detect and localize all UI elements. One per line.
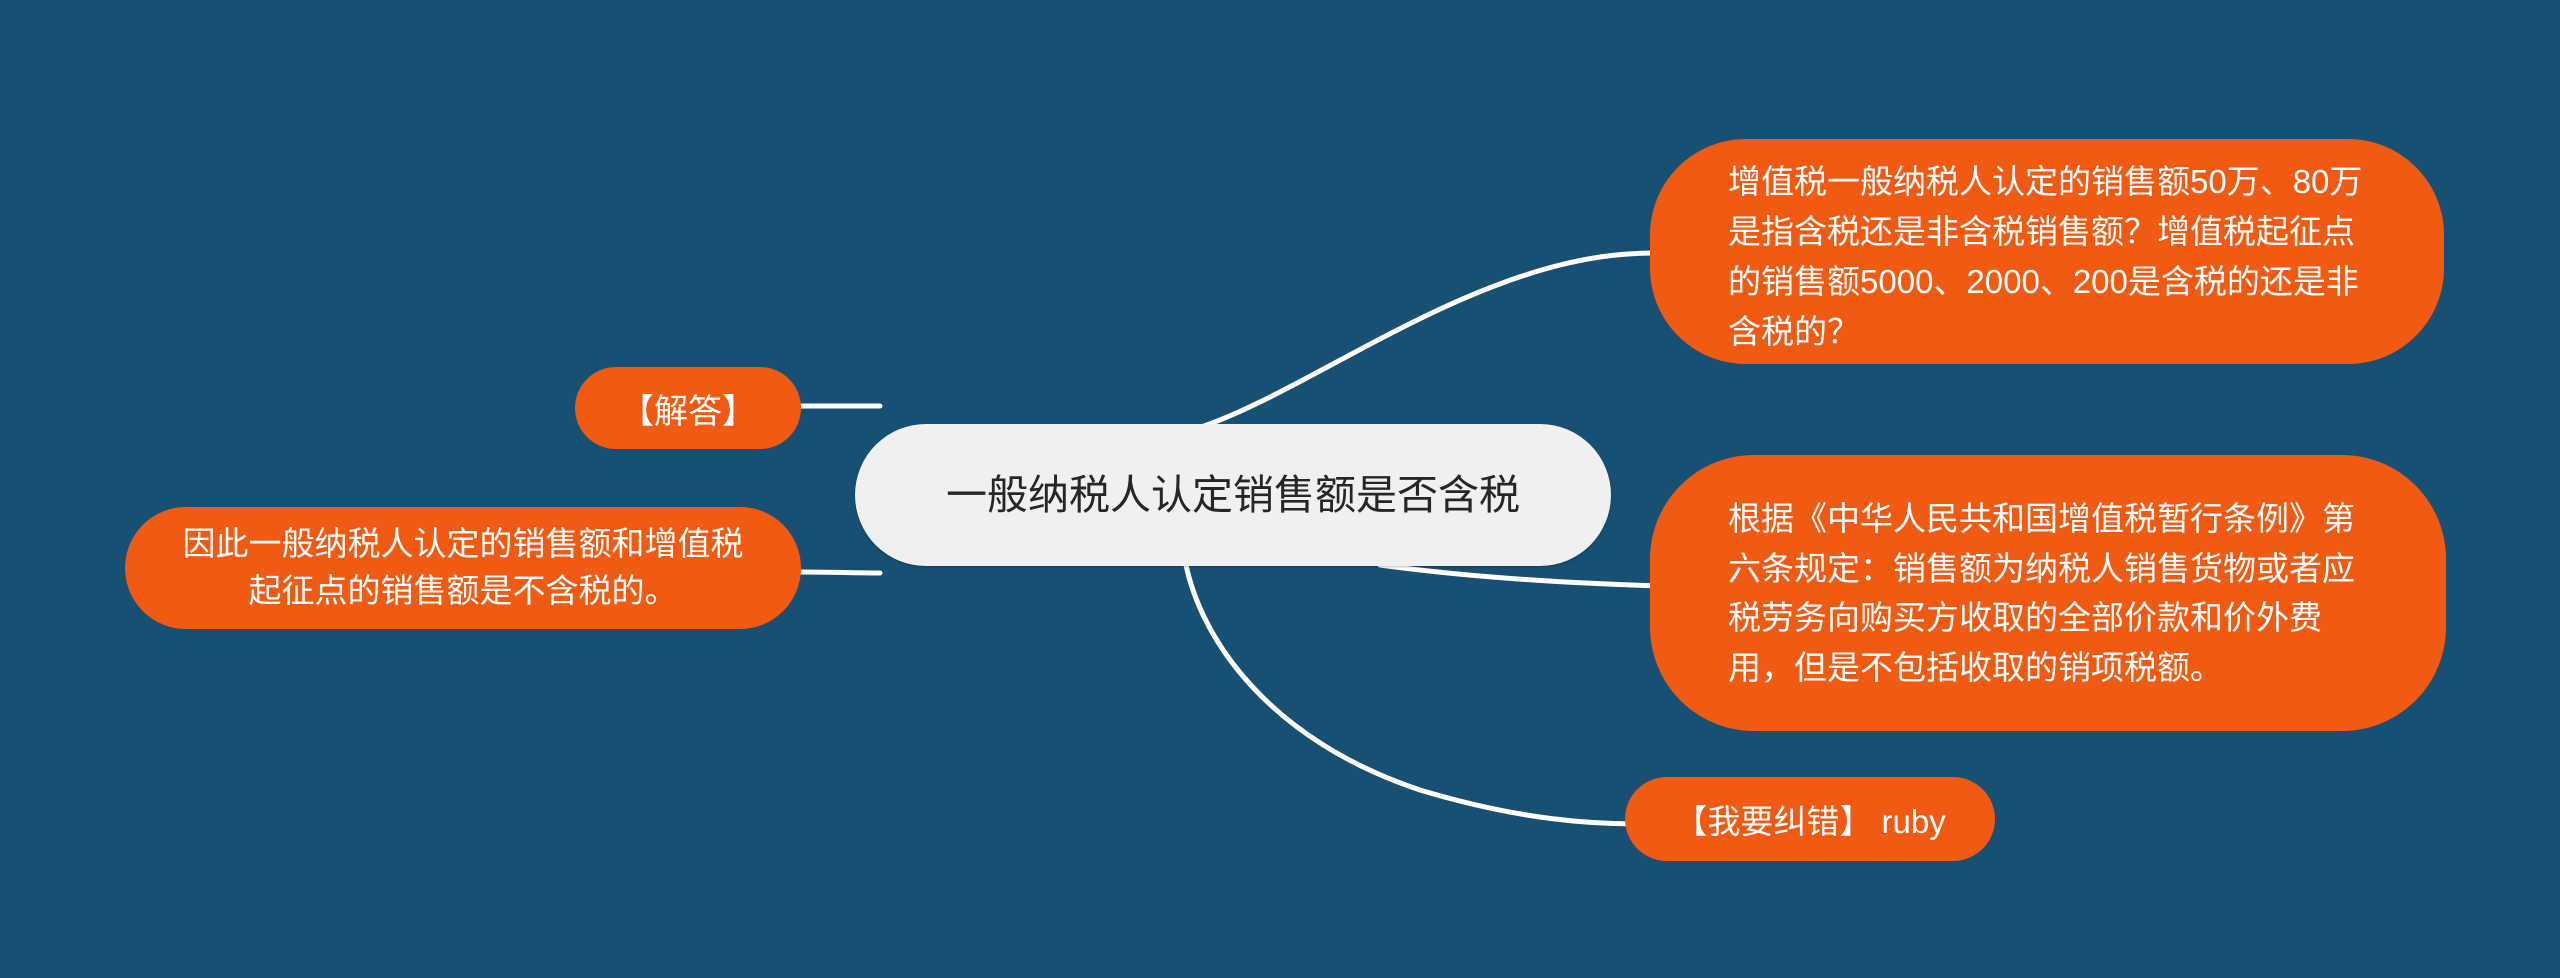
connector-root-to-correct bbox=[1185, 560, 1640, 824]
branch-node-regulation-label: 根据《中华人民共和国增值税暂行条例》第六条规定：销售额为纳税人销售货物或者应税劳… bbox=[1728, 494, 2376, 692]
branch-node-question[interactable]: 增值税一般纳税人认定的销售额50万、80万是指含税还是非含税销售额？增值税起征点… bbox=[1650, 139, 2444, 364]
branch-node-conclusion[interactable]: 因此一般纳税人认定的销售额和增值税起征点的销售额是不含税的。 bbox=[125, 507, 801, 629]
connector-root-to-question bbox=[1192, 253, 1660, 430]
branch-node-conclusion-label: 因此一般纳税人认定的销售额和增值税起征点的销售额是不含税的。 bbox=[181, 521, 745, 615]
mindmap-canvas: 一般纳税人认定销售额是否含税 【解答】 因此一般纳税人认定的销售额和增值税起征点… bbox=[0, 0, 2560, 978]
root-node[interactable]: 一般纳税人认定销售额是否含税 bbox=[855, 424, 1611, 566]
branch-node-regulation[interactable]: 根据《中华人民共和国增值税暂行条例》第六条规定：销售额为纳税人销售货物或者应税劳… bbox=[1650, 455, 2446, 731]
root-node-label: 一般纳税人认定销售额是否含税 bbox=[919, 469, 1547, 521]
branch-node-question-label: 增值税一般纳税人认定的销售额50万、80万是指含税还是非含税销售额？增值税起征点… bbox=[1728, 157, 2374, 358]
connector-root-to-regulation bbox=[1380, 565, 1660, 586]
branch-node-report-error-label: 【我要纠错】 ruby bbox=[1645, 795, 1975, 843]
branch-node-jieda-label: 【解答】 bbox=[593, 384, 783, 433]
branch-node-jieda[interactable]: 【解答】 bbox=[575, 367, 801, 449]
connector-root-to-conclusion bbox=[800, 572, 880, 573]
branch-node-report-error[interactable]: 【我要纠错】 ruby bbox=[1625, 777, 1995, 861]
